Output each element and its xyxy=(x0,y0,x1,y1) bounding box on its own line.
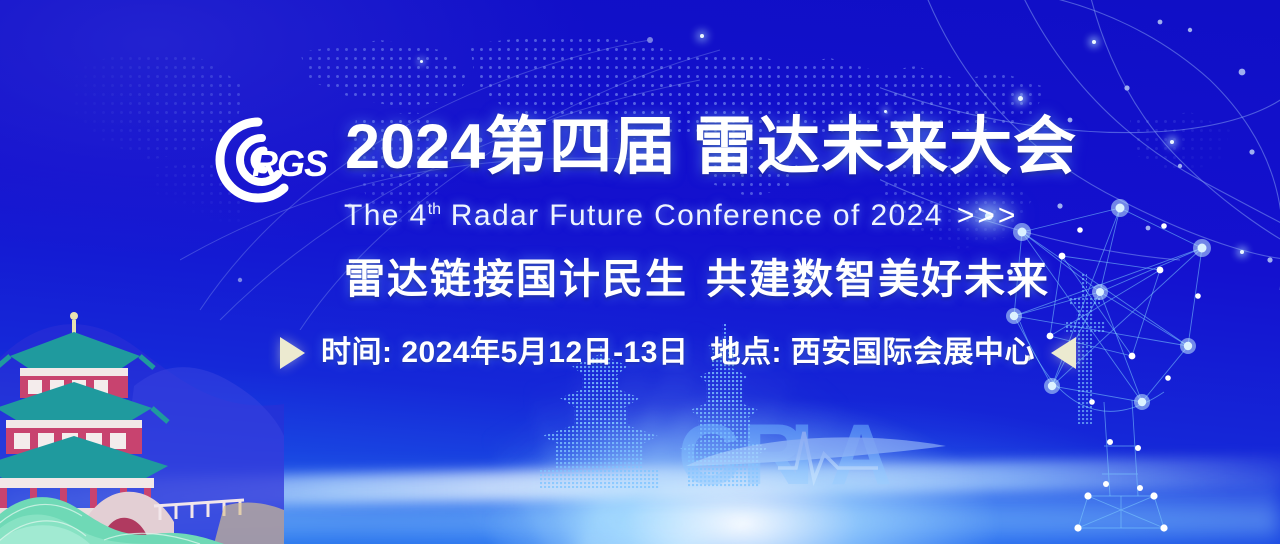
english-subtitle: The 4th Radar Future Conference of 2024>… xyxy=(344,192,1018,234)
subtitle-ordinal: th xyxy=(428,201,441,218)
page-title: 2024第四届雷达未来大会 xyxy=(345,112,1077,182)
date-label: 时间: xyxy=(321,332,393,374)
conference-banner: CR I A xyxy=(0,0,1280,544)
venue-value: 西安国际会展中心 xyxy=(791,332,1035,374)
spiral-swirl-icon: RGS xyxy=(196,114,336,206)
slogan-part-1: 雷达链接国计民生 xyxy=(344,256,688,302)
triangle-left-icon xyxy=(1051,337,1076,369)
venue-label: 地点: xyxy=(711,332,783,374)
rgs-logo-text: RGS xyxy=(252,143,328,184)
chevron-right-icon: >>> xyxy=(957,198,1019,234)
slogan: 雷达链接国计民生共建数智美好未来 xyxy=(344,253,1050,305)
slogan-part-2: 共建数智美好未来 xyxy=(706,256,1050,302)
title-name: 雷达未来大会 xyxy=(693,112,1077,182)
title-edition: 第四届 xyxy=(485,112,677,182)
subtitle-prefix: The 4 xyxy=(344,199,428,232)
banner-content: RGS 2024第四届雷达未来大会 The 4th Radar Future C… xyxy=(0,0,1280,544)
title-year: 2024 xyxy=(345,112,485,182)
triangle-right-icon xyxy=(280,337,305,369)
event-info-line: 时间: 2024年5月12日-13日 地点: 西安国际会展中心 xyxy=(280,332,1076,374)
rgs-logo[interactable]: RGS xyxy=(196,114,336,206)
subtitle-suffix: Radar Future Conference of 2024 xyxy=(441,199,943,232)
date-value: 2024年5月12日-13日 xyxy=(401,332,688,374)
